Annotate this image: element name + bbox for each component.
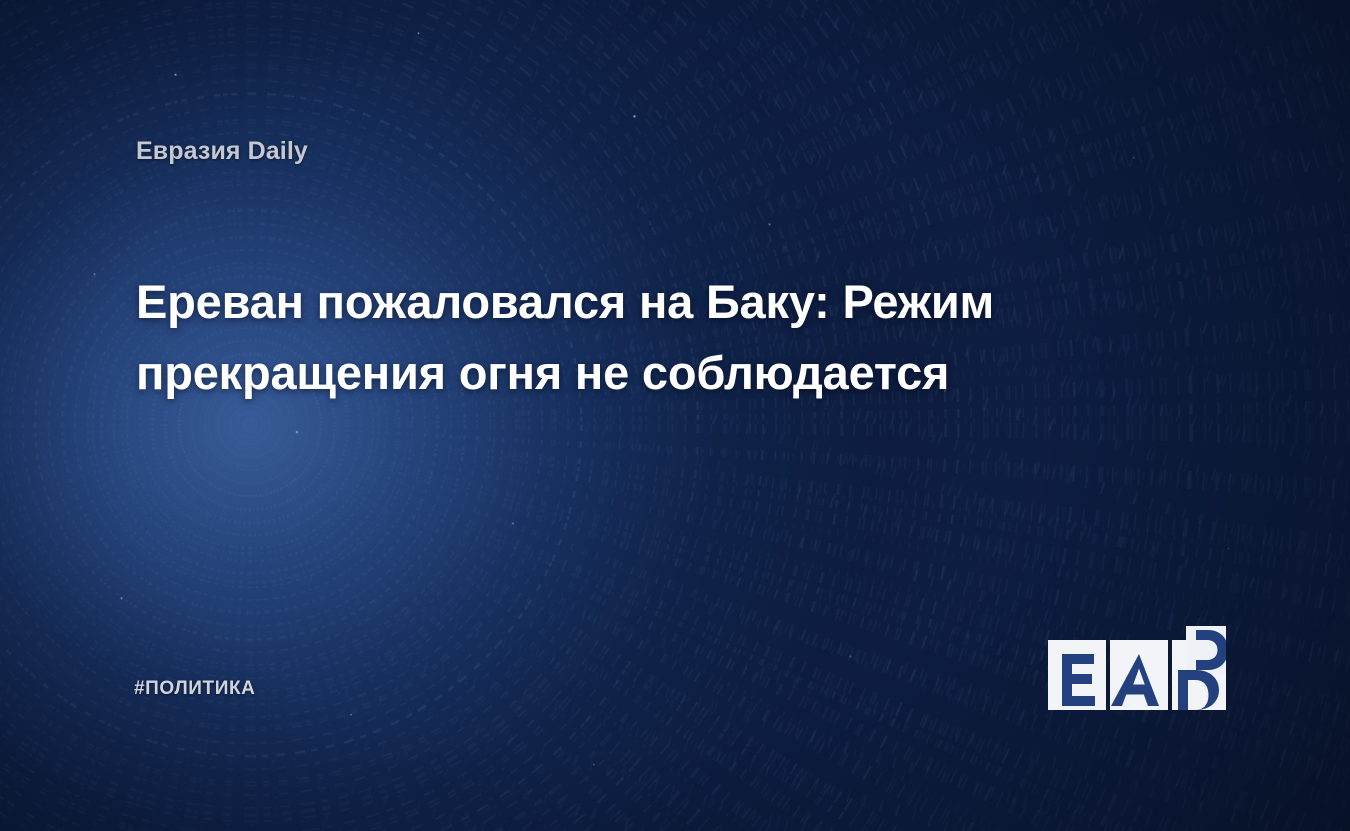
- ead-logo[interactable]: [1046, 626, 1226, 714]
- news-card: Евразия Daily Ереван пожаловался на Баку…: [0, 0, 1350, 831]
- headline: Ереван пожаловался на Баку: Режим прекра…: [136, 266, 1196, 409]
- card-content: Евразия Daily Ереван пожаловался на Баку…: [0, 0, 1350, 831]
- category-tag: #ПОЛИТИКА: [134, 678, 256, 700]
- brand-name: Евразия Daily: [136, 137, 308, 166]
- ead-logo-icon: [1046, 626, 1226, 714]
